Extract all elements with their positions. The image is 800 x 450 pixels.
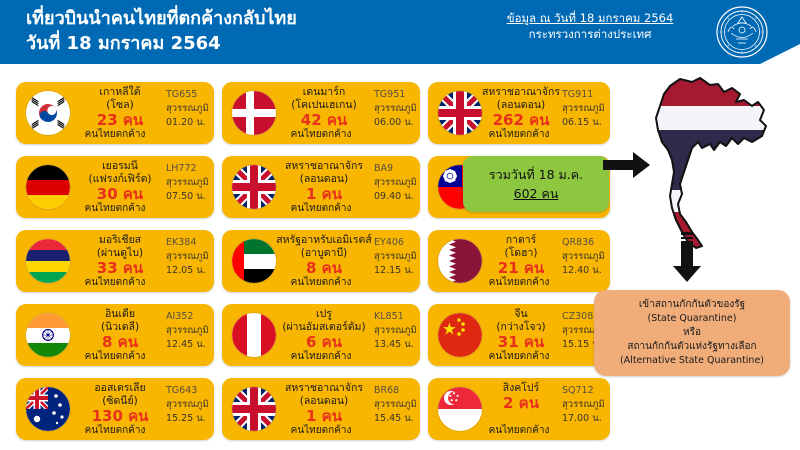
card-country: จีน — [478, 308, 564, 321]
card-arrival-time: 06.15 น. — [562, 116, 606, 130]
daily-total-label: รวมวันที่ 18 ม.ค. — [489, 165, 583, 184]
flight-card: จีน(กว่างโจว)31 คนCZ3081สุวรรณภูมิ15.15 … — [428, 304, 610, 366]
card-airport: สุวรรณภูมิ — [374, 398, 420, 412]
card-passenger-count: 23 คน — [72, 112, 168, 129]
quarantine-line-4: สถานกักกันตัวแห่งรัฐทางเลือก — [627, 340, 756, 354]
card-flight-number: TG655 — [166, 88, 212, 102]
card-arrival-time: 17.00 น. — [562, 412, 606, 426]
card-country: ออสเตรเลีย — [72, 382, 168, 395]
card-country: เยอรมนี — [72, 160, 168, 173]
quarantine-line-3: หรือ — [683, 326, 701, 340]
card-country: เกาหลีใต้ — [72, 86, 168, 99]
card-flight-number: LH772 — [166, 162, 212, 176]
quarantine-info-box: เข้าสถานกักกันตัวของรัฐ (State Quarantin… — [594, 290, 790, 376]
card-stranded-label: คนไทยตกค้าง — [50, 203, 180, 215]
card-country: เดนมาร์ก — [274, 86, 374, 99]
card-arrival-time: 12.40 น. — [562, 264, 606, 278]
card-passenger-count: 130 คน — [72, 408, 168, 425]
card-country: สหราชอาณาจักร — [478, 86, 564, 99]
flight-card: อินเดีย(นิวเดลี)8 คนAI352สุวรรณภูมิ12.45… — [16, 304, 214, 366]
flight-card: เยอรมนี(แฟรงก์เฟิร์ต)30 คนLH772สุวรรณภูม… — [16, 156, 214, 218]
card-arrival-time: 12.05 น. — [166, 264, 212, 278]
flight-card: สิงคโปร์2 คนSQ712สุวรรณภูมิ17.00 น.คนไทย… — [428, 378, 610, 440]
flight-card: เกาหลีใต้(โซล)23 คนTG655สุวรรณภูมิ01.20 … — [16, 82, 214, 144]
card-passenger-count: 6 คน — [274, 334, 374, 351]
card-flight-number: QR836 — [562, 236, 606, 250]
card-flight-number: EY406 — [374, 236, 420, 250]
card-country: สหรัฐอาหรับเอมิเรตส์ — [274, 234, 374, 247]
card-flight-number: TG911 — [562, 88, 606, 102]
card-country: กาตาร์ — [478, 234, 564, 247]
card-flight-number: EK384 — [166, 236, 212, 250]
flight-card: สหราชอาณาจักร(ลอนดอน)1 คนBR68สุวรรณภูมิ1… — [222, 378, 420, 440]
card-arrival-time: 09.40 น. — [374, 190, 420, 204]
card-arrival-time: 06.00 น. — [374, 116, 420, 130]
card-airport: สุวรรณภูมิ — [374, 324, 420, 338]
card-stranded-label: คนไทยตกค้าง — [454, 351, 584, 363]
flight-card-grid: เกาหลีใต้(โซล)23 คนTG655สุวรรณภูมิ01.20 … — [0, 0, 620, 450]
card-passenger-count: 33 คน — [72, 260, 168, 277]
card-stranded-label: คนไทยตกค้าง — [256, 277, 386, 289]
card-passenger-count: 30 คน — [72, 186, 168, 203]
flight-card: ออสเตรเลีย(ซิดนีย์)130 คนTG643สุวรรณภูมิ… — [16, 378, 214, 440]
arrow-down-icon — [672, 232, 702, 284]
card-airport: สุวรรณภูมิ — [562, 250, 606, 264]
card-flight-number: TG951 — [374, 88, 420, 102]
card-passenger-count: 21 คน — [478, 260, 564, 277]
card-airport: สุวรรณภูมิ — [166, 398, 212, 412]
card-arrival-time: 12.45 น. — [166, 338, 212, 352]
card-stranded-label: คนไทยตกค้าง — [256, 203, 386, 215]
card-passenger-count: 2 คน — [478, 395, 564, 412]
card-country: อินเดีย — [72, 308, 168, 321]
card-passenger-count: 8 คน — [72, 334, 168, 351]
card-stranded-label: คนไทยตกค้าง — [256, 425, 386, 437]
flight-card: สหราชอาณาจักร(ลอนดอน)262 คนTG911สุวรรณภู… — [428, 82, 610, 144]
card-passenger-count: 42 คน — [274, 112, 374, 129]
card-arrival-time: 15.25 น. — [166, 412, 212, 426]
flight-card: สหราชอาณาจักร(ลอนดอน)1 คนBA9สุวรรณภูมิ09… — [222, 156, 420, 218]
ministry-seal — [716, 6, 768, 58]
card-stranded-label: คนไทยตกค้าง — [454, 129, 584, 141]
flight-card: กาตาร์(โดฮา)21 คนQR836สุวรรณภูมิ12.40 น.… — [428, 230, 610, 292]
card-stranded-label: คนไทยตกค้าง — [256, 351, 386, 363]
card-flight-number: BR68 — [374, 384, 420, 398]
card-stranded-label: คนไทยตกค้าง — [454, 277, 584, 289]
card-arrival-time: 15.45 น. — [374, 412, 420, 426]
card-airport: สุวรรณภูมิ — [374, 250, 420, 264]
card-airport: สุวรรณภูมิ — [166, 324, 212, 338]
quarantine-line-1: เข้าสถานกักกันตัวของรัฐ — [639, 298, 745, 312]
card-flight-number: AI352 — [166, 310, 212, 324]
card-passenger-count: 1 คน — [274, 186, 374, 203]
card-arrival-time: 13.45 น. — [374, 338, 420, 352]
card-flight-number: BA9 — [374, 162, 420, 176]
flight-card: มอริเชียส(ผ่านดูไบ)33 คนEK384สุวรรณภูมิ1… — [16, 230, 214, 292]
card-flight-number: KL851 — [374, 310, 420, 324]
card-airport: สุวรรณภูมิ — [166, 250, 212, 264]
card-airport: สุวรรณภูมิ — [562, 398, 606, 412]
quarantine-line-5: (Alternative State Quarantine) — [620, 354, 764, 368]
card-country: สหราชอาณาจักร — [274, 160, 374, 173]
card-country: เปรู — [274, 308, 374, 321]
card-flight-number: SQ712 — [562, 384, 606, 398]
card-airport: สุวรรณภูมิ — [374, 102, 420, 116]
card-arrival-time: 12.15 น. — [374, 264, 420, 278]
card-airport: สุวรรณภูมิ — [166, 102, 212, 116]
flight-card: เปรู(ผ่านอัมสเตอร์ดัม)6 คนKL851สุวรรณภูม… — [222, 304, 420, 366]
card-stranded-label: คนไทยตกค้าง — [50, 129, 180, 141]
card-stranded-label: คนไทยตกค้าง — [50, 351, 180, 363]
card-flight-number: TG643 — [166, 384, 212, 398]
card-stranded-label: คนไทยตกค้าง — [454, 425, 584, 437]
thailand-map — [640, 72, 790, 252]
card-passenger-count: 8 คน — [274, 260, 374, 277]
card-airport: สุวรรณภูมิ — [562, 102, 606, 116]
card-stranded-label: คนไทยตกค้าง — [256, 129, 386, 141]
card-passenger-count: 1 คน — [274, 408, 374, 425]
card-stranded-label: คนไทยตกค้าง — [50, 425, 180, 437]
card-arrival-time: 01.20 น. — [166, 116, 212, 130]
quarantine-line-2: (State Quarantine) — [648, 312, 737, 326]
card-passenger-count: 31 คน — [478, 334, 564, 351]
card-country: สหราชอาณาจักร — [274, 382, 374, 395]
card-arrival-time: 07.50 น. — [166, 190, 212, 204]
daily-total-box: รวมวันที่ 18 ม.ค. 602 คน — [463, 156, 609, 212]
card-country: มอริเชียส — [72, 234, 168, 247]
flight-card: สหรัฐอาหรับเอมิเรตส์(อาบูดาบี)8 คนEY406ส… — [222, 230, 420, 292]
card-stranded-label: คนไทยตกค้าง — [50, 277, 180, 289]
flight-card: เดนมาร์ก(โคเปนเฮเกน)42 คนTG951สุวรรณภูมิ… — [222, 82, 420, 144]
card-passenger-count: 262 คน — [478, 112, 564, 129]
card-airport: สุวรรณภูมิ — [374, 176, 420, 190]
daily-total-value: 602 คน — [514, 184, 559, 203]
card-airport: สุวรรณภูมิ — [166, 176, 212, 190]
